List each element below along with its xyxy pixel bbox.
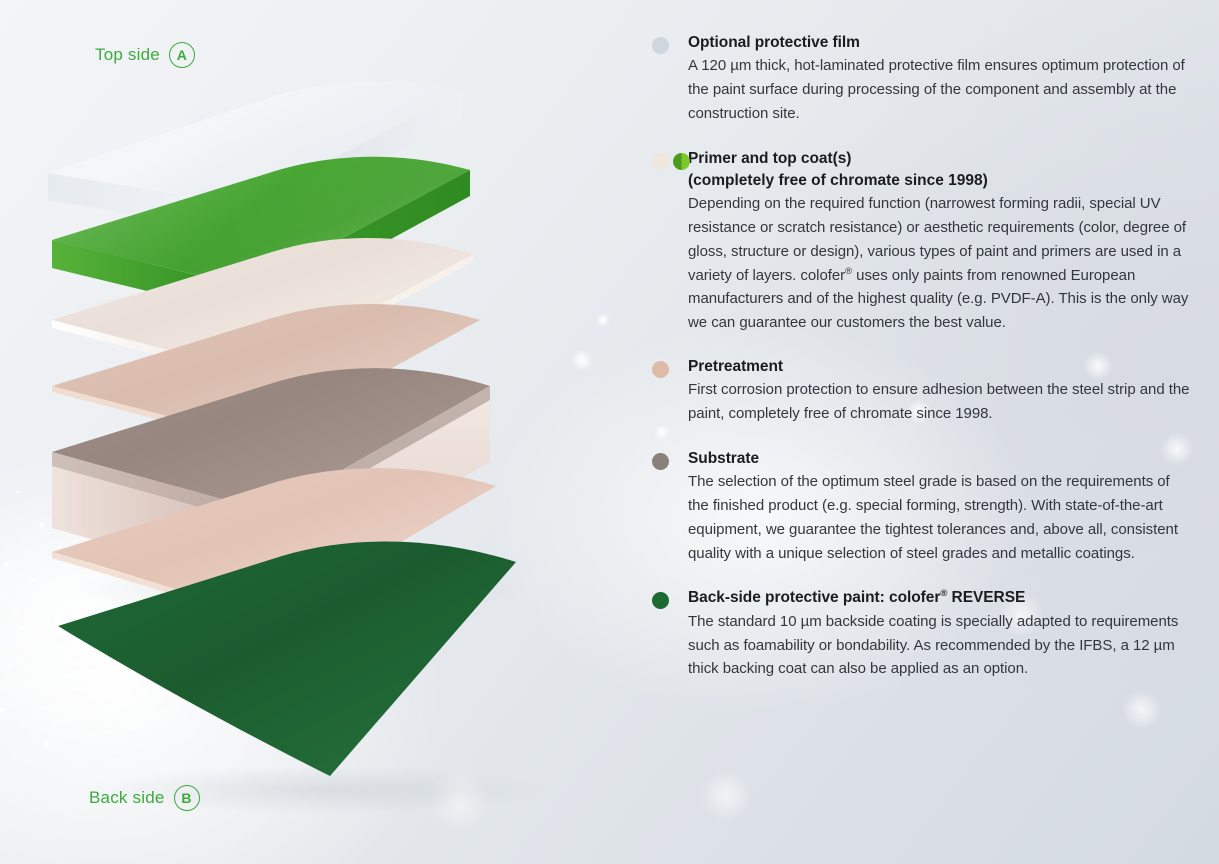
legend-swatches — [652, 361, 669, 378]
swatch-top-coat — [673, 153, 690, 170]
legend-item-backside-paint: Back-side protective paint: colofer® REV… — [652, 587, 1192, 681]
legend-item-protective-film: Optional protective film A 120 µm thick,… — [652, 32, 1192, 126]
swatch-protective-film — [652, 37, 669, 54]
legend-title-part-2: REVERSE — [947, 590, 1025, 607]
swatch-pretreatment — [652, 361, 669, 378]
legend-item-primer-topcoat: Primer and top coat(s) (completely free … — [652, 148, 1192, 335]
legend-body-backside-paint: The standard 10 µm backside coating is s… — [688, 610, 1192, 681]
legend-body-primer-topcoat: Depending on the required function (narr… — [688, 192, 1192, 335]
swatch-backside-paint — [652, 592, 669, 609]
bokeh-dot — [430, 770, 490, 830]
top-side-text: Top side — [95, 45, 160, 65]
swatch-substrate — [652, 453, 669, 470]
legend-title-backside-paint: Back-side protective paint: colofer® REV… — [688, 587, 1192, 609]
legend-swatches — [652, 592, 669, 609]
legend-swatches — [652, 37, 669, 54]
bokeh-dot — [700, 770, 752, 822]
legend-title-primer-topcoat: Primer and top coat(s) — [688, 148, 1192, 169]
bokeh-dot — [1122, 690, 1162, 730]
legend-title-substrate: Substrate — [688, 448, 1192, 469]
bokeh-dot — [571, 349, 593, 371]
legend-title-protective-film: Optional protective film — [688, 32, 1192, 53]
legend-body-protective-film: A 120 µm thick, hot-laminated protective… — [688, 54, 1192, 125]
back-side-label: Back side B — [89, 785, 200, 811]
legend-title-part-1: Back-side protective paint: colofer — [688, 590, 940, 607]
top-side-label: Top side A — [95, 42, 195, 68]
layer-pretreatment-top — [52, 304, 480, 446]
back-side-text: Back side — [89, 788, 165, 808]
legend-list: Optional protective film A 120 µm thick,… — [652, 32, 1192, 681]
layer-backside-paint — [58, 542, 550, 814]
legend-item-substrate: Substrate The selection of the optimum s… — [652, 448, 1192, 565]
bokeh-dot — [596, 313, 610, 327]
layer-pretreatment-back — [52, 468, 496, 624]
layer-substrate — [52, 368, 530, 616]
legend-body-substrate: The selection of the optimum steel grade… — [688, 470, 1192, 565]
back-side-badge: B — [174, 785, 200, 811]
legend-body-pretreatment: First corrosion protection to ensure adh… — [688, 378, 1192, 426]
exploded-layer-stack — [0, 0, 640, 864]
layer-primer — [52, 238, 474, 380]
top-side-badge: A — [169, 42, 195, 68]
layer-top-coat — [52, 157, 470, 332]
sparkle-texture — [0, 470, 380, 800]
swatch-primer — [652, 153, 669, 170]
legend-item-pretreatment: Pretreatment First corrosion protection … — [652, 356, 1192, 426]
legend-title-pretreatment: Pretreatment — [688, 356, 1192, 377]
legend-subtitle-primer-topcoat: (completely free of chromate since 1998) — [688, 170, 1192, 191]
legend-swatches — [652, 153, 690, 170]
bokeh-dot — [246, 250, 258, 262]
legend-swatches — [652, 453, 669, 470]
layer-protective-film — [48, 81, 462, 232]
layer-structure-infographic: Top side A Back side B Optional protecti… — [0, 0, 1219, 864]
